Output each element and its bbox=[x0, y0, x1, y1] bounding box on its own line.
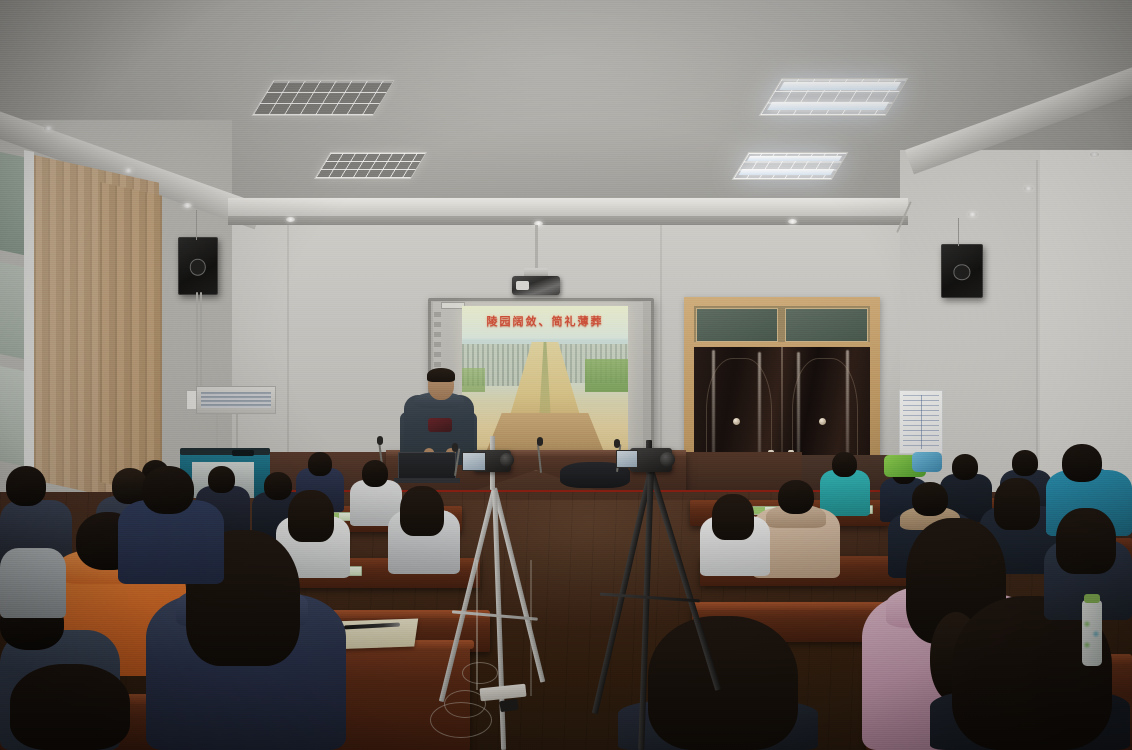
audience-head bbox=[288, 490, 334, 542]
door-decoration bbox=[819, 418, 826, 425]
ceiling-fixture-dot bbox=[286, 217, 295, 222]
wall-seam bbox=[660, 222, 662, 462]
ceiling-light-back-left bbox=[314, 152, 427, 179]
window-pane bbox=[0, 152, 26, 256]
window-curtain-second-panel bbox=[100, 182, 162, 496]
ceiling-fixture-dot bbox=[1024, 186, 1033, 191]
floor-cable-loop bbox=[444, 690, 486, 718]
slide-foreground-soil bbox=[485, 413, 605, 454]
transom-window-right bbox=[785, 308, 868, 342]
presenter-hair bbox=[427, 368, 455, 382]
laptop-base bbox=[394, 478, 460, 483]
window-mullion bbox=[24, 150, 34, 482]
lecture-hall-photograph: 陵园阔敛、简礼薄葬 bbox=[0, 0, 1132, 750]
audience-head bbox=[778, 480, 814, 514]
presenter-shirt-graphic bbox=[428, 418, 452, 432]
wall-speaker-left bbox=[178, 237, 218, 295]
audience-head bbox=[362, 460, 388, 487]
water-bottle-cap bbox=[1084, 594, 1100, 603]
ceiling-fixture-dot bbox=[44, 126, 53, 131]
floor-cable bbox=[530, 560, 532, 696]
water-bottle-pattern bbox=[1082, 618, 1102, 658]
camcorder-right-lens bbox=[660, 452, 675, 467]
equipment-cabinet-top bbox=[180, 448, 270, 455]
audience-head bbox=[912, 482, 948, 516]
door-decoration bbox=[733, 418, 740, 425]
slide-green-field bbox=[585, 359, 628, 392]
speaker-cable bbox=[958, 218, 959, 246]
slide-green-field-left bbox=[462, 368, 485, 392]
equipment-cabinet-handle[interactable] bbox=[232, 450, 254, 456]
projected-slide: 陵园阔敛、简礼薄葬 bbox=[462, 306, 628, 454]
notice-paper bbox=[899, 390, 943, 454]
microphone-head bbox=[537, 437, 543, 446]
ceiling-light-front-left bbox=[251, 80, 395, 116]
floor-cable bbox=[476, 560, 478, 690]
microphone-head bbox=[452, 443, 458, 452]
slide-title: 陵园阔敛、简礼薄葬 bbox=[462, 313, 628, 329]
audience-long-hair bbox=[1056, 508, 1116, 574]
audience-head bbox=[1012, 450, 1038, 476]
audience-head bbox=[832, 452, 857, 477]
speaker-cable bbox=[196, 210, 197, 240]
ceiling-fixture-dot bbox=[124, 168, 133, 173]
audience-head bbox=[142, 466, 194, 514]
audience-head bbox=[952, 454, 978, 480]
audience-head bbox=[400, 486, 444, 536]
ceiling-soffit-shadow bbox=[228, 216, 908, 225]
audience-long-hair bbox=[648, 616, 798, 750]
wall-cable bbox=[196, 292, 198, 388]
audience-head bbox=[712, 494, 754, 540]
audience-long-hair bbox=[10, 664, 130, 750]
wall-seam bbox=[287, 222, 289, 472]
audience-head bbox=[994, 478, 1040, 530]
camcorder-left-lcd bbox=[462, 452, 486, 471]
ceiling-fixture-dot bbox=[968, 212, 977, 217]
window-pane bbox=[0, 262, 26, 360]
wall-socket-panel[interactable] bbox=[196, 386, 276, 414]
audience-head bbox=[308, 452, 332, 476]
projector-mount-pole bbox=[535, 225, 538, 271]
wall-speaker-right bbox=[941, 244, 983, 298]
ceiling-light-front-right bbox=[759, 78, 909, 116]
projector-lens bbox=[516, 281, 529, 290]
audience-head bbox=[1062, 444, 1102, 482]
window-pane bbox=[0, 366, 26, 467]
audience-head bbox=[208, 466, 235, 493]
ceiling-fixture-dot bbox=[183, 203, 192, 208]
microphone-head bbox=[614, 439, 620, 448]
ceiling-fixture-dot bbox=[1090, 152, 1099, 157]
camcorder-right-lcd bbox=[616, 450, 638, 468]
ceiling-light-back-right bbox=[732, 152, 849, 180]
audience-head bbox=[264, 472, 292, 500]
blue-bag bbox=[912, 452, 942, 472]
audience-person bbox=[0, 548, 66, 618]
transom-window-left bbox=[696, 308, 778, 342]
microphone-head bbox=[377, 436, 383, 445]
ceiling-fixture-dot bbox=[788, 219, 797, 224]
audience-head bbox=[6, 466, 46, 506]
camcorder-left-lens bbox=[500, 453, 514, 467]
floor-cable-loop bbox=[462, 662, 498, 684]
